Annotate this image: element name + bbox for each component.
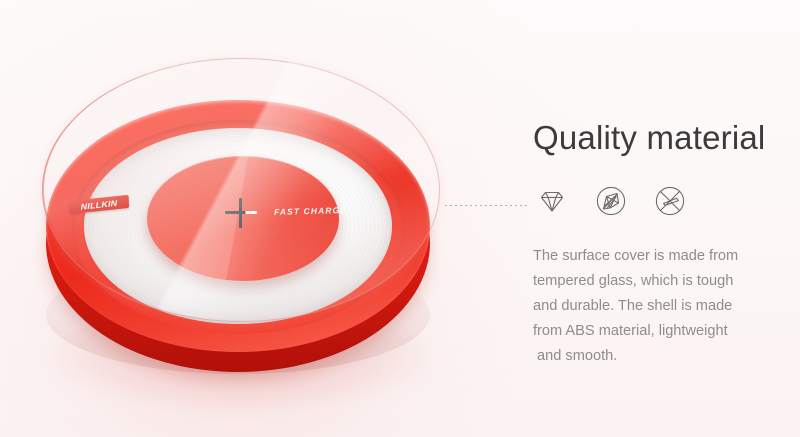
feature-icon-row <box>535 184 783 218</box>
description-line: and smooth. <box>533 344 761 369</box>
cross-vertical-bar <box>239 198 242 228</box>
feature-text-panel: Quality material <box>533 118 783 369</box>
description-line: from ABS material, lightweight <box>533 319 761 344</box>
description-line: The surface cover is made from <box>533 244 761 269</box>
callout-leader-line <box>445 205 529 206</box>
anti-scratch-icon <box>653 184 687 218</box>
fast-charge-label: FAST CHARGE <box>274 205 347 217</box>
product-image-wireless-charger: NILLKIN FAST CHARGE <box>28 58 448 403</box>
anti-shatter-icon <box>594 184 628 218</box>
product-feature-banner: NILLKIN FAST CHARGE Quality material <box>0 0 800 437</box>
description-line: and durable. The shell is made <box>533 294 761 319</box>
page-title: Quality material <box>533 118 783 158</box>
description-line: tempered glass, which is tough <box>533 269 761 294</box>
nillkin-brand-label: NILLKIN <box>80 198 117 211</box>
feature-description: The surface cover is made from tempered … <box>533 244 761 369</box>
diamond-icon <box>535 184 569 218</box>
plus-cross-mark-icon <box>224 196 258 230</box>
